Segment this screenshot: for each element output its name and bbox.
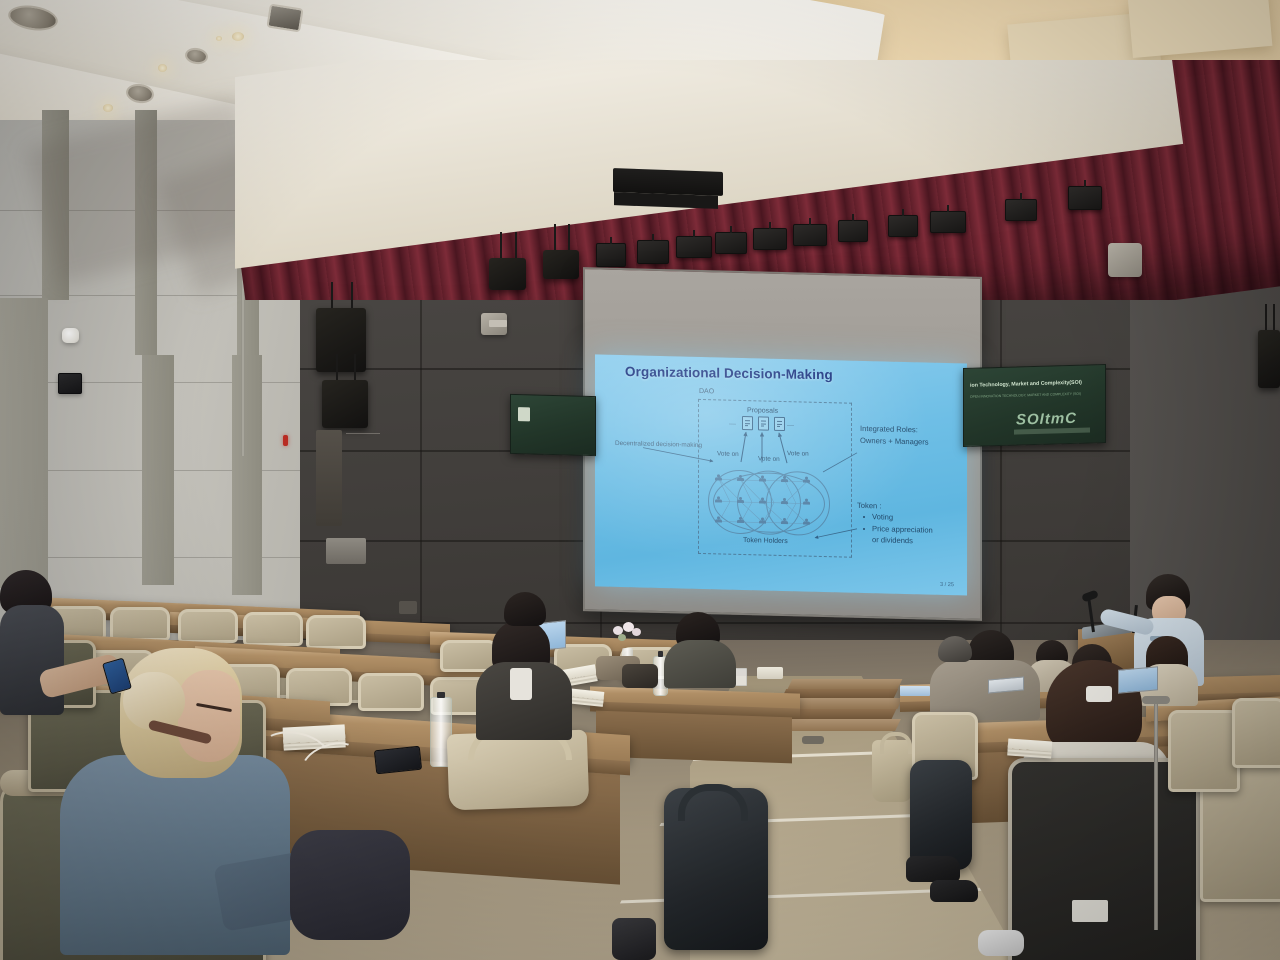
banner-left xyxy=(510,394,596,456)
microphone-stand-joint xyxy=(1142,696,1170,704)
wall-marker-tray xyxy=(489,320,507,327)
audience-stage-body xyxy=(664,640,736,688)
stage-light xyxy=(793,224,827,246)
shoe xyxy=(930,880,978,902)
stage-light xyxy=(888,215,918,237)
presentation-slide: Organizational Decision-Making DAO Propo… xyxy=(595,354,967,595)
handbag-handle xyxy=(880,732,912,754)
floor-bag xyxy=(612,918,656,960)
wall-accent-strip xyxy=(142,355,174,585)
stage-light xyxy=(676,236,712,258)
seat-right-2[interactable] xyxy=(1168,710,1240,792)
banner-right: ion Technology, Market and Complexity(SO… xyxy=(963,364,1106,447)
wall-accent-strip xyxy=(232,355,262,595)
owners-managers-label: Owners + Managers xyxy=(860,435,929,448)
wall-accent-strip xyxy=(0,298,48,588)
ceiling-speaker xyxy=(266,3,303,32)
stage-light xyxy=(1068,186,1102,210)
banner-right-logo-underline xyxy=(1014,427,1090,434)
stage-light xyxy=(838,220,868,242)
audience-center-back-hair xyxy=(504,592,546,626)
token-bullet-1: Voting xyxy=(872,511,893,523)
audience-front-left-lap xyxy=(290,830,410,940)
hair-clip xyxy=(1086,686,1112,702)
paper-sheet xyxy=(757,667,783,679)
stage-light xyxy=(596,243,626,267)
seat-right-3[interactable] xyxy=(1232,698,1280,768)
wall-speaker-upper xyxy=(316,308,366,372)
wall-outlet xyxy=(399,601,417,614)
stage-light xyxy=(715,232,747,254)
seat[interactable] xyxy=(358,673,424,711)
wall-speaker-far-right xyxy=(1258,330,1280,388)
wall-box xyxy=(326,538,366,564)
smoke-detector-icon xyxy=(62,328,79,343)
flower xyxy=(632,628,641,636)
wall-speaker-right xyxy=(1108,243,1142,277)
banner-left-logo-icon xyxy=(518,407,530,421)
fire-alarm-icon xyxy=(283,435,288,446)
stage-light xyxy=(1005,199,1037,221)
shoe xyxy=(906,856,960,882)
wall-control-panel[interactable] xyxy=(58,373,82,394)
smartphone[interactable] xyxy=(374,746,422,775)
wall-column-panel xyxy=(316,430,342,526)
hanging-speaker xyxy=(543,250,579,279)
backpack-right xyxy=(910,760,972,870)
projection-screen: Organizational Decision-Making DAO Propo… xyxy=(583,267,982,621)
leaf xyxy=(618,634,626,641)
bag xyxy=(622,664,658,688)
microphone-stand xyxy=(1154,700,1158,930)
network-links xyxy=(595,354,967,595)
seat[interactable] xyxy=(243,612,303,646)
stage-light xyxy=(753,228,787,250)
stage-light xyxy=(930,211,966,233)
audience-right-5-hair xyxy=(938,636,972,662)
token-heading: Token : xyxy=(857,500,881,512)
floor-outlet xyxy=(802,736,824,744)
banner-right-logo: SOItmC xyxy=(1016,410,1077,429)
seat-label xyxy=(1072,900,1108,922)
audience-center-collar xyxy=(510,668,532,700)
auditorium-scene: Organizational Decision-Making DAO Propo… xyxy=(0,0,1280,960)
hanging-speaker xyxy=(489,258,526,290)
wall-line xyxy=(346,433,380,434)
stage-step xyxy=(788,679,903,689)
seat[interactable] xyxy=(110,607,170,641)
wall-speaker-lower xyxy=(322,380,368,428)
slide-page-number: 3 / 25 xyxy=(940,582,954,588)
seat[interactable] xyxy=(178,609,238,643)
laptop-screen[interactable] xyxy=(1118,666,1158,693)
banner-right-title: ion Technology, Market and Complexity(SO… xyxy=(970,380,1082,389)
sneaker xyxy=(978,930,1024,956)
seat[interactable] xyxy=(306,615,366,649)
integrated-roles-label: Integrated Roles: xyxy=(860,423,918,435)
token-bullet-3: or dividends xyxy=(872,534,913,546)
audience-left-body xyxy=(0,605,64,715)
audience-front-left-face xyxy=(178,670,240,762)
stage-light xyxy=(637,240,669,264)
laptop-screen-far[interactable] xyxy=(900,686,930,696)
token-holders-label: Token Holders xyxy=(743,536,788,547)
banner-right-subtitle: OPEN INNOVATION TECHNOLOGY, MARKET AND C… xyxy=(970,392,1081,399)
